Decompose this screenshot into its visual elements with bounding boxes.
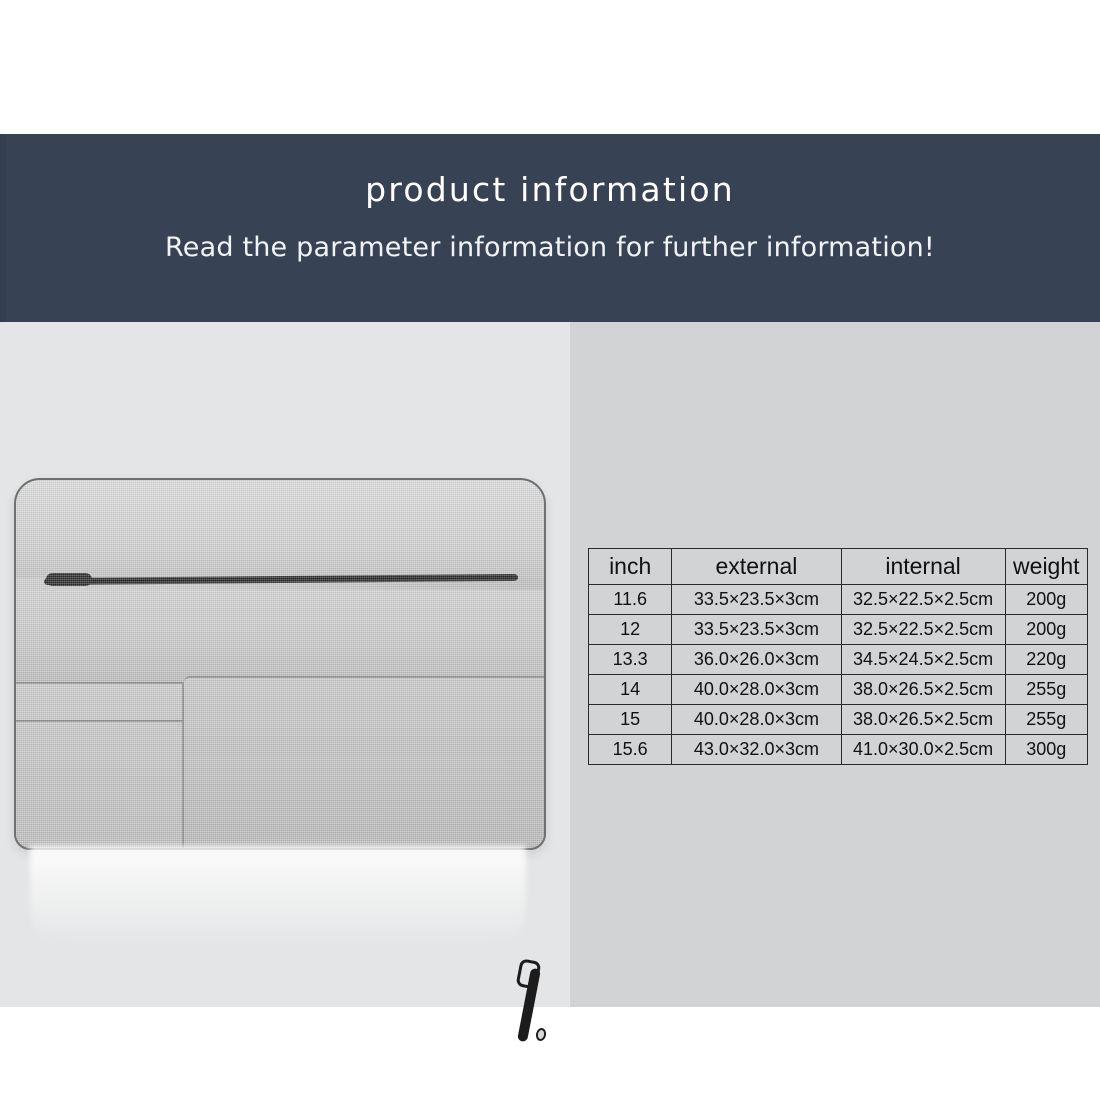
cell-inch: 13.3 (589, 645, 672, 675)
cell-inch: 14 (589, 675, 672, 705)
cell-external: 36.0×26.0×3cm (672, 645, 841, 675)
sleeve-front-pocket-band (16, 590, 544, 684)
cell-internal: 38.0×26.5×2.5cm (841, 675, 1005, 705)
sleeve-top-panel (16, 480, 544, 578)
table-header-row: inch external internal weight (589, 549, 1088, 585)
sleeve-small-left-pocket (16, 684, 184, 848)
cell-weight: 300g (1005, 735, 1087, 765)
zipper-pull-eyelet-icon (535, 1027, 547, 1042)
header-banner: product information Read the parameter i… (0, 134, 1100, 322)
column-header-internal: internal (841, 549, 1005, 585)
column-header-inch: inch (589, 549, 672, 585)
table-row: 15.6 43.0×32.0×3cm 41.0×30.0×2.5cm 300g (589, 735, 1088, 765)
product-reflection (30, 846, 526, 950)
cell-weight: 200g (1005, 615, 1087, 645)
cell-external: 40.0×28.0×3cm (672, 705, 841, 735)
cell-weight: 255g (1005, 705, 1087, 735)
cell-external: 33.5×23.5×3cm (672, 615, 841, 645)
product-image-panel (0, 322, 570, 1007)
table-row: 12 33.5×23.5×3cm 32.5×22.5×2.5cm 200g (589, 615, 1088, 645)
cell-internal: 34.5×24.5×2.5cm (841, 645, 1005, 675)
sleeve-large-right-pocket (184, 676, 544, 850)
table-row: 13.3 36.0×26.0×3cm 34.5×24.5×2.5cm 220g (589, 645, 1088, 675)
cell-inch: 12 (589, 615, 672, 645)
page-title: product information (0, 170, 1100, 209)
sleeve-body (14, 478, 546, 850)
cell-internal: 38.0×26.5×2.5cm (841, 705, 1005, 735)
cell-weight: 200g (1005, 585, 1087, 615)
cell-internal: 32.5×22.5×2.5cm (841, 615, 1005, 645)
cell-external: 33.5×23.5×3cm (672, 585, 841, 615)
cell-weight: 255g (1005, 675, 1087, 705)
column-header-weight: weight (1005, 549, 1087, 585)
spec-table-container: inch external internal weight 11.6 33.5×… (588, 548, 1088, 765)
cell-internal: 32.5×22.5×2.5cm (841, 585, 1005, 615)
product-information-page: product information Read the parameter i… (0, 0, 1100, 1100)
table-row: 15 40.0×28.0×3cm 38.0×26.5×2.5cm 255g (589, 705, 1088, 735)
column-header-external: external (672, 549, 841, 585)
page-subtitle: Read the parameter information for furth… (0, 232, 1100, 263)
table-row: 11.6 33.5×23.5×3cm 32.5×22.5×2.5cm 200g (589, 585, 1088, 615)
product-photo-laptop-sleeve (0, 432, 560, 892)
cell-internal: 41.0×30.0×2.5cm (841, 735, 1005, 765)
cell-inch: 15 (589, 705, 672, 735)
cell-weight: 220g (1005, 645, 1087, 675)
specification-table: inch external internal weight 11.6 33.5×… (588, 548, 1088, 765)
cell-inch: 15.6 (589, 735, 672, 765)
table-row: 14 40.0×28.0×3cm 38.0×26.5×2.5cm 255g (589, 675, 1088, 705)
zipper-slider-icon (46, 573, 92, 586)
content-panel: inch external internal weight 11.6 33.5×… (0, 322, 1100, 1007)
cell-external: 43.0×32.0×3cm (672, 735, 841, 765)
cell-inch: 11.6 (589, 585, 672, 615)
cell-external: 40.0×28.0×3cm (672, 675, 841, 705)
pocket-seam (16, 720, 182, 722)
